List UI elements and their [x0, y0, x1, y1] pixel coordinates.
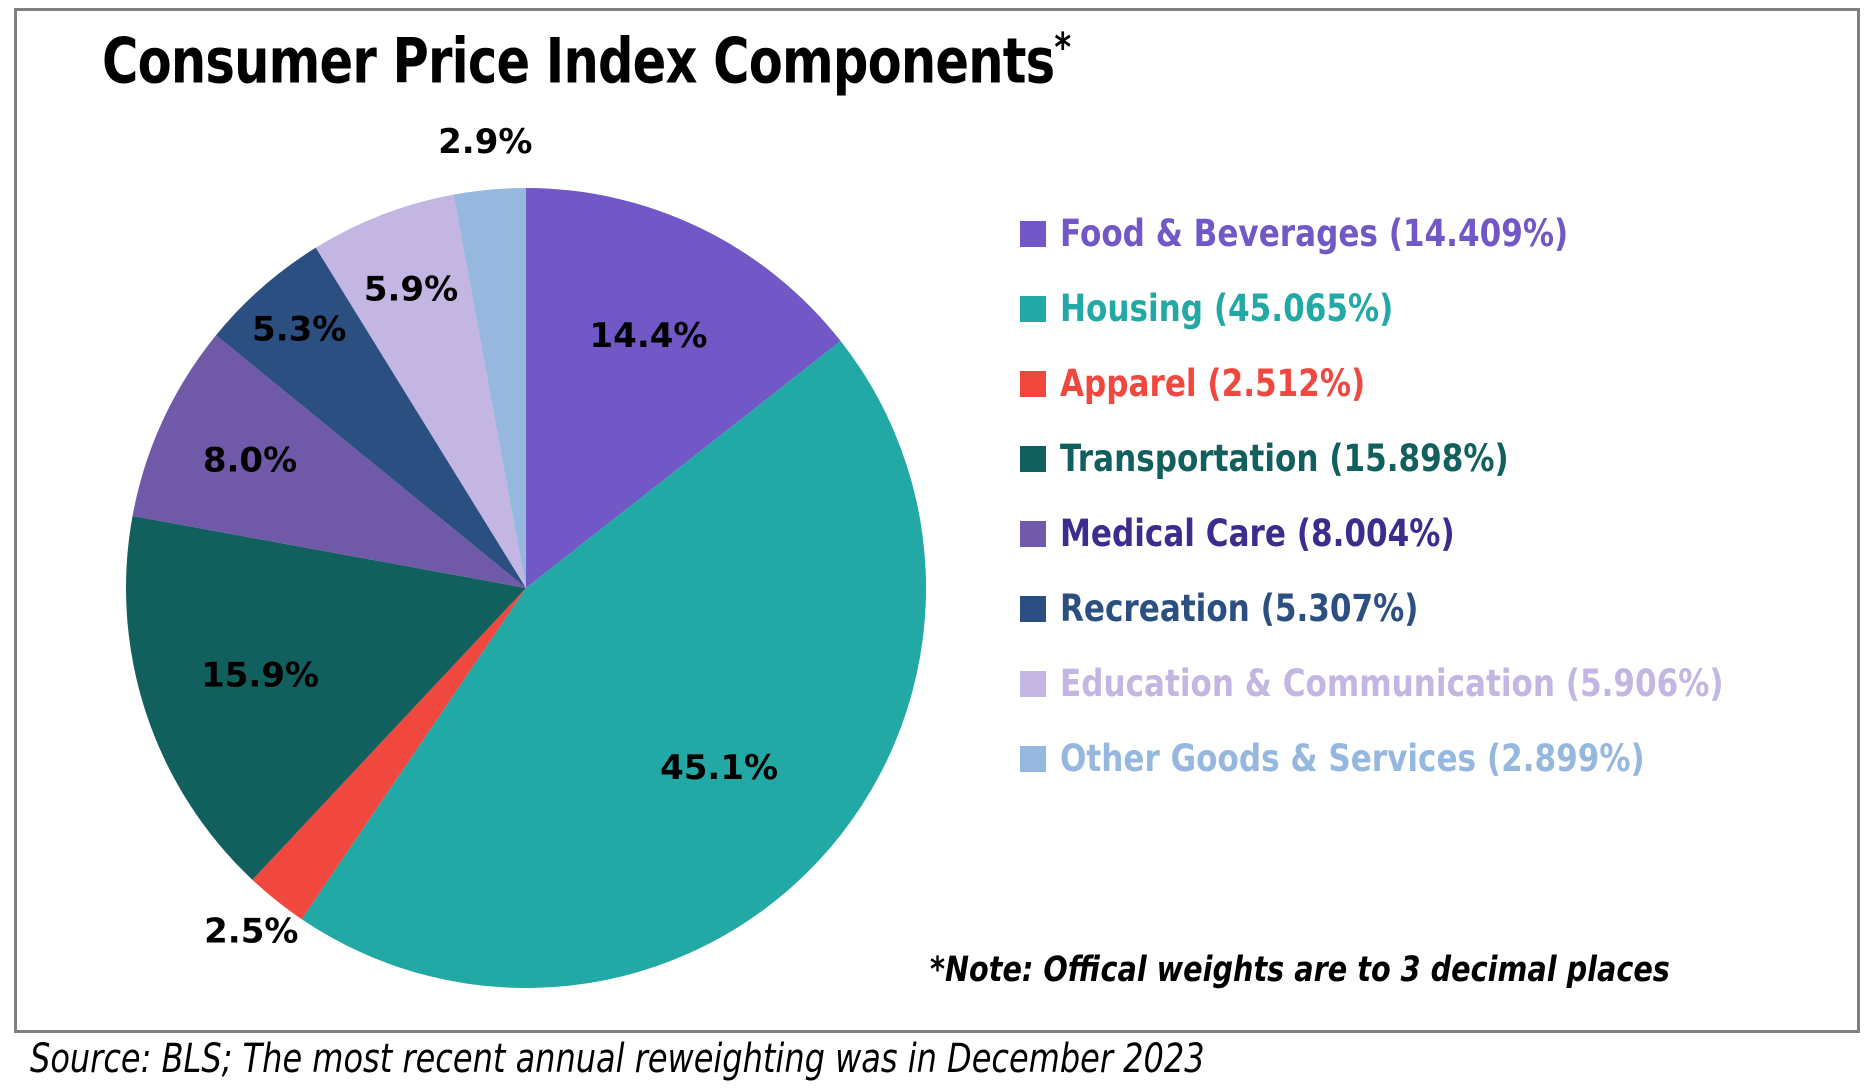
legend-item-label: Food & Beverages (14.409%): [1060, 215, 1568, 252]
legend-item-label: Housing (45.065%): [1060, 290, 1393, 327]
footnote-note: *Note: Offical weights are to 3 decimal …: [930, 950, 1668, 990]
pie-slice-value-label: 15.9%: [201, 656, 319, 696]
legend: Food & Beverages (14.409%)Housing (45.06…: [1020, 196, 1850, 796]
legend-swatch-icon: [1020, 296, 1046, 322]
legend-item-label: Transportation (15.898%): [1060, 440, 1509, 477]
pie-slice-value-label: 2.9%: [438, 122, 532, 162]
legend-item-label: Other Goods & Services (2.899%): [1060, 740, 1645, 777]
pie-slice-value-label: 45.1%: [660, 748, 778, 788]
legend-item[interactable]: Transportation (15.898%): [1020, 421, 1850, 496]
legend-item[interactable]: Other Goods & Services (2.899%): [1020, 721, 1850, 796]
legend-item-label: Apparel (2.512%): [1060, 365, 1365, 402]
legend-item[interactable]: Food & Beverages (14.409%): [1020, 196, 1850, 271]
legend-item[interactable]: Recreation (5.307%): [1020, 571, 1850, 646]
legend-swatch-icon: [1020, 521, 1046, 547]
legend-swatch-icon: [1020, 746, 1046, 772]
legend-item-label: Medical Care (8.004%): [1060, 515, 1455, 552]
page-title: Consumer Price Index Components*: [102, 28, 918, 93]
pie-slice-value-label: 8.0%: [203, 441, 297, 481]
pie-chart-svg: 14.4%45.1%2.5%15.9%8.0%5.3%5.9%2.9%: [60, 120, 1010, 1020]
legend-item[interactable]: Medical Care (8.004%): [1020, 496, 1850, 571]
title-footnote-marker: *: [1054, 25, 1070, 71]
legend-swatch-icon: [1020, 371, 1046, 397]
legend-swatch-icon: [1020, 221, 1046, 247]
legend-item-label: Education & Communication (5.906%): [1060, 665, 1724, 702]
pie-chart: 14.4%45.1%2.5%15.9%8.0%5.3%5.9%2.9%: [60, 120, 1010, 1020]
legend-item[interactable]: Education & Communication (5.906%): [1020, 646, 1850, 721]
legend-swatch-icon: [1020, 446, 1046, 472]
legend-item-label: Recreation (5.307%): [1060, 590, 1418, 627]
legend-item[interactable]: Apparel (2.512%): [1020, 346, 1850, 421]
pie-slice-value-label: 5.9%: [364, 269, 458, 309]
pie-slice-value-label: 14.4%: [590, 316, 708, 356]
cpi-pie-chart-figure: Consumer Price Index Components* 14.4%45…: [0, 0, 1875, 1092]
pie-slices: [126, 188, 926, 988]
source-caption: Source: BLS; The most recent annual rewe…: [30, 1036, 1205, 1082]
legend-swatch-icon: [1020, 596, 1046, 622]
legend-item[interactable]: Housing (45.065%): [1020, 271, 1850, 346]
pie-slice-value-label: 5.3%: [252, 309, 346, 349]
chart-title-text: Consumer Price Index Components: [102, 25, 1054, 98]
legend-swatch-icon: [1020, 671, 1046, 697]
pie-slice-value-label: 2.5%: [204, 912, 298, 952]
